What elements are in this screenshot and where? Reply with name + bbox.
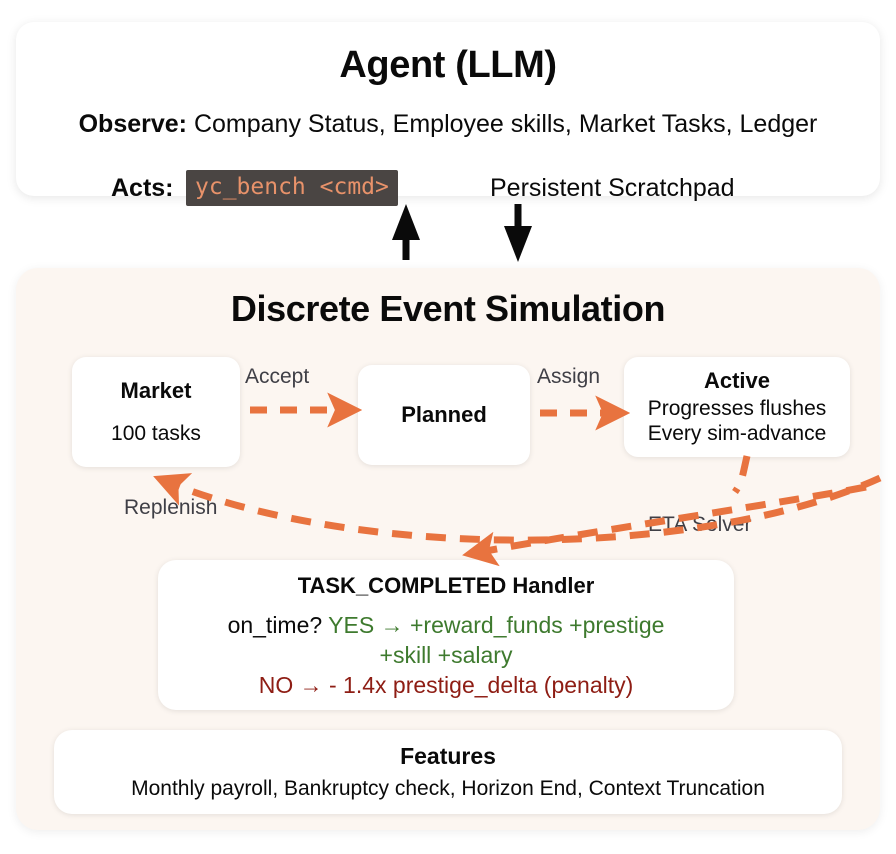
- agent-title: Agent (LLM): [16, 44, 880, 87]
- node-active-title: Active: [704, 368, 770, 394]
- node-active-subtitle-line2: Every sim-advance: [648, 422, 827, 447]
- node-active-subtitle-line1: Progresses flushes: [648, 397, 827, 422]
- handler-rules: on_time? YES → +reward_funds +prestige +…: [158, 611, 734, 701]
- edge-label-eta: ETA Solver: [648, 513, 751, 537]
- node-planned[interactable]: Planned: [358, 365, 530, 465]
- edge-label-assign: Assign: [537, 365, 600, 389]
- observe-value: Company Status, Employee skills, Market …: [194, 110, 817, 138]
- handler-question: on_time?: [228, 612, 323, 638]
- handler-yes-line2: +skill +salary: [158, 641, 734, 671]
- simulation-title: Discrete Event Simulation: [16, 288, 880, 330]
- acts-command-badge: yc_bench <cmd>: [186, 170, 398, 206]
- node-market-title: Market: [121, 378, 192, 404]
- node-market[interactable]: Market 100 tasks: [72, 357, 240, 467]
- agent-acts-row: Acts: yc_bench <cmd> Persistent Scratchp…: [16, 170, 880, 214]
- handler-title: TASK_COMPLETED Handler: [298, 573, 595, 599]
- features-list: Monthly payroll, Bankruptcy check, Horiz…: [131, 777, 765, 801]
- edge-label-accept: Accept: [245, 365, 309, 389]
- handler-no-line: NO → - 1.4x prestige_delta (penalty): [158, 671, 734, 701]
- node-features[interactable]: Features Monthly payroll, Bankruptcy che…: [54, 730, 842, 814]
- persistent-scratchpad-label: Persistent Scratchpad: [490, 174, 735, 203]
- diagram-canvas: Agent (LLM) Observe: Company Status, Emp…: [0, 0, 896, 854]
- agent-observe-row: Observe: Company Status, Employee skills…: [16, 110, 880, 139]
- node-market-subtitle: 100 tasks: [111, 422, 201, 446]
- node-active[interactable]: Active Progresses flushes Every sim-adva…: [624, 357, 850, 457]
- node-task-completed-handler[interactable]: TASK_COMPLETED Handler on_time? YES → +r…: [158, 560, 734, 710]
- acts-label: Acts:: [111, 174, 174, 203]
- agent-card: Agent (LLM) Observe: Company Status, Emp…: [16, 22, 880, 196]
- node-planned-title: Planned: [401, 402, 487, 428]
- handler-yes-line1: YES → +reward_funds +prestige: [328, 612, 664, 638]
- edge-label-replenish: Replenish: [124, 496, 217, 520]
- features-title: Features: [400, 743, 496, 770]
- handler-yes-row: on_time? YES → +reward_funds +prestige: [158, 611, 734, 641]
- observe-label: Observe:: [79, 110, 187, 138]
